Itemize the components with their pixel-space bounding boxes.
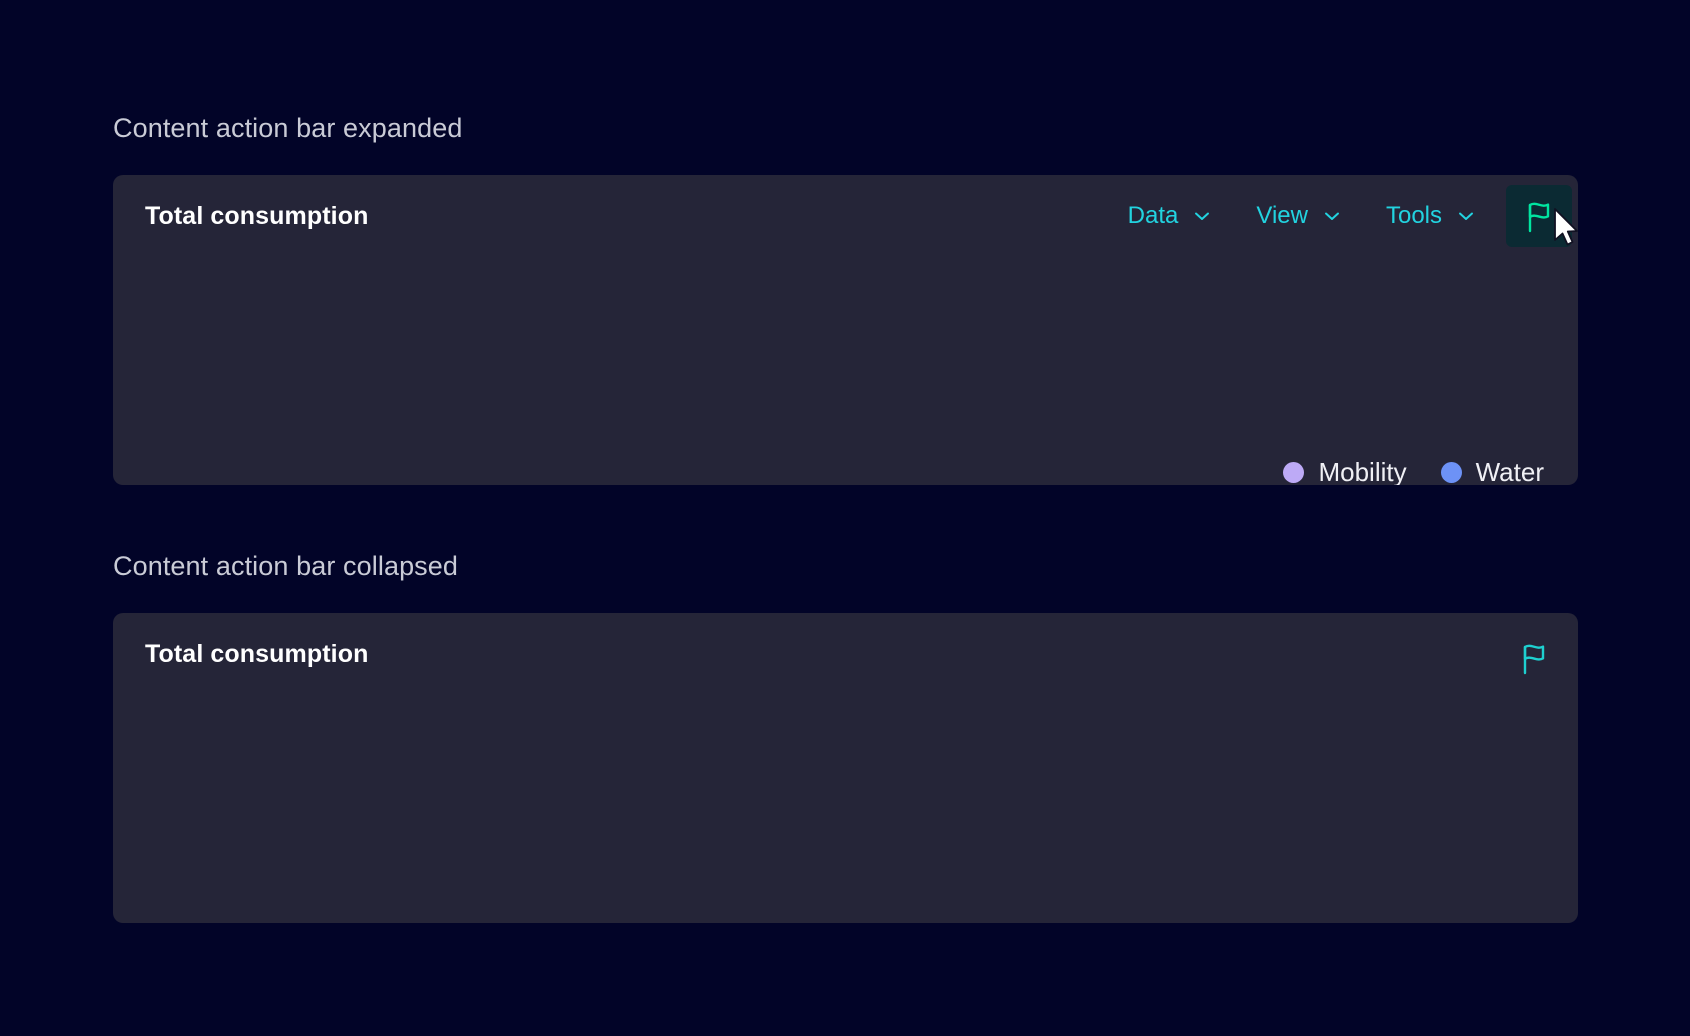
legend-dot-mobility — [1283, 462, 1304, 483]
legend-dot-water — [1441, 462, 1462, 483]
chevron-down-icon — [1322, 206, 1342, 226]
menu-button-view[interactable]: View — [1234, 192, 1364, 240]
flag-icon — [1518, 641, 1550, 678]
card-header-expanded: Total consumption Data View — [113, 175, 1578, 257]
section-heading-collapsed: Content action bar collapsed — [113, 551, 458, 582]
card-title: Total consumption — [145, 640, 368, 669]
flag-button[interactable] — [1512, 639, 1556, 679]
menu-button-data-label: Data — [1128, 202, 1179, 230]
section-heading-expanded: Content action bar expanded — [113, 113, 462, 144]
menu-button-data[interactable]: Data — [1106, 192, 1235, 240]
legend-item-mobility: Mobility — [1283, 457, 1406, 485]
flag-button[interactable] — [1506, 185, 1572, 247]
legend-item-water: Water — [1441, 457, 1544, 485]
chart-legend: Mobility Water — [1283, 457, 1544, 485]
card-content-action-bar-collapsed: Total consumption Mobility Water — [113, 613, 1578, 923]
card-title: Total consumption — [145, 202, 368, 231]
legend-label-water: Water — [1476, 457, 1544, 485]
card-header-collapsed: Total consumption — [113, 613, 1578, 695]
flag-icon — [1523, 199, 1555, 233]
card-content-action-bar-expanded: Total consumption Data View — [113, 175, 1578, 485]
menu-button-tools-label: Tools — [1386, 202, 1442, 230]
page-root: Content action bar expanded Total consum… — [0, 0, 1690, 1036]
legend-label-mobility: Mobility — [1318, 457, 1406, 485]
menu-button-view-label: View — [1256, 202, 1308, 230]
content-action-bar: Data View Tools — [1106, 175, 1578, 257]
chevron-down-icon — [1192, 206, 1212, 226]
chevron-down-icon — [1456, 206, 1476, 226]
menu-button-tools[interactable]: Tools — [1364, 192, 1498, 240]
